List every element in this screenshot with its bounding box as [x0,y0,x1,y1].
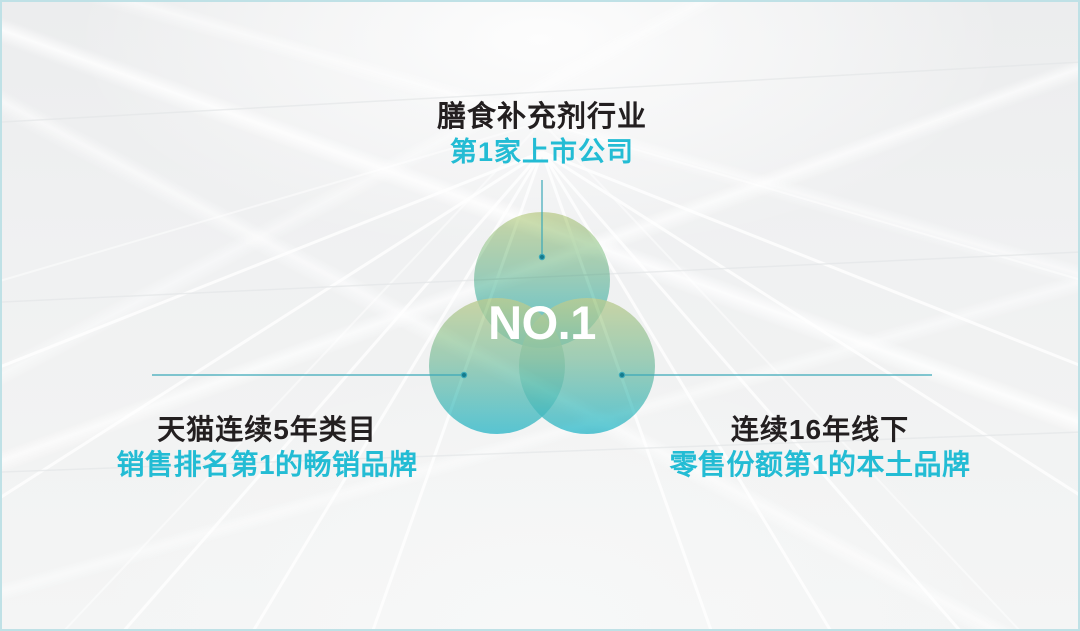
callout-top: 膳食补充剂行业 第1家上市公司 [2,99,1080,169]
callout-top-line-2: 第1家上市公司 [2,135,1080,169]
callout-bottom-left-line-2: 销售排名第1的畅销品牌 [97,447,437,483]
callout-bottom-right-line-1: 连续16年线下 [650,412,990,447]
center-no1-label: NO.1 [2,299,1080,346]
callout-bottom-left-line-1: 天猫连续5年类目 [97,412,437,447]
callout-top-line-1: 膳食补充剂行业 [2,99,1080,135]
callout-bottom-right: 连续16年线下 零售份额第1的本土品牌 [650,412,990,483]
infographic-slide: NO.1 膳食补充剂行业 第1家上市公司 天猫连续5年类目 销售排名第1的畅销品… [0,0,1080,631]
callout-bottom-right-line-2: 零售份额第1的本土品牌 [650,447,990,483]
callout-bottom-left: 天猫连续5年类目 销售排名第1的畅销品牌 [97,412,437,483]
